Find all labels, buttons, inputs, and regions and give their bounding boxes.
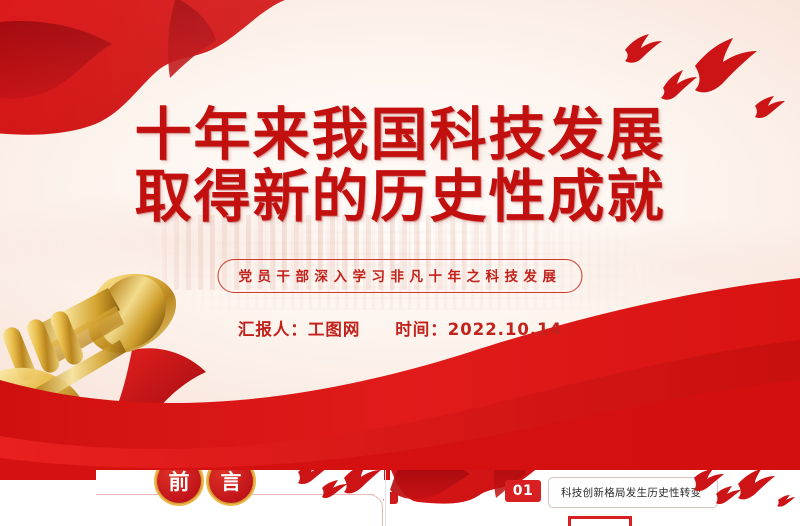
presenter-label: 汇报人：工图网 <box>238 320 361 339</box>
flying-birds-icon <box>294 470 384 502</box>
red-accent-nub <box>390 492 398 504</box>
thumbnail-divider <box>385 470 386 526</box>
title-line-2: 取得新的历史性成就 <box>0 166 800 228</box>
mini-outline-rect <box>568 516 632 526</box>
divider-left <box>96 494 162 495</box>
preface-circle-2: 言 <box>206 470 256 506</box>
cover-slide: 十年来我国科技发展 取得新的历史性成就 党员干部深入学习非凡十年之科技发展 汇报… <box>0 0 800 480</box>
thumbnail-section-01-slide[interactable]: 01 科技创新格局发生历史性转变 <box>390 470 800 526</box>
preface-circle-1: 前 <box>154 470 204 506</box>
subtitle-pill: 党员干部深入学习非凡十年之科技发展 <box>218 259 583 293</box>
subtitle-text: 党员干部深入学习非凡十年之科技发展 <box>239 269 562 285</box>
title-line-1: 十年来我国科技发展 <box>0 104 800 166</box>
date-label: 时间：2022.10.14 <box>395 320 562 339</box>
thumbnail-preface-slide[interactable]: 前 言 <box>96 470 384 526</box>
flying-birds-icon <box>690 470 795 510</box>
cover-title: 十年来我国科技发展 取得新的历史性成就 <box>0 104 800 228</box>
slide-preview-canvas: 十年来我国科技发展 取得新的历史性成就 党员干部深入学习非凡十年之科技发展 汇报… <box>0 0 800 526</box>
section-caption-text: 科技创新格局发生历史性转变 <box>549 485 701 500</box>
section-number-badge: 01 <box>505 480 541 502</box>
cover-meta: 汇报人：工图网 时间：2022.10.14 <box>0 316 800 340</box>
preface-circles: 前 言 <box>154 470 256 506</box>
